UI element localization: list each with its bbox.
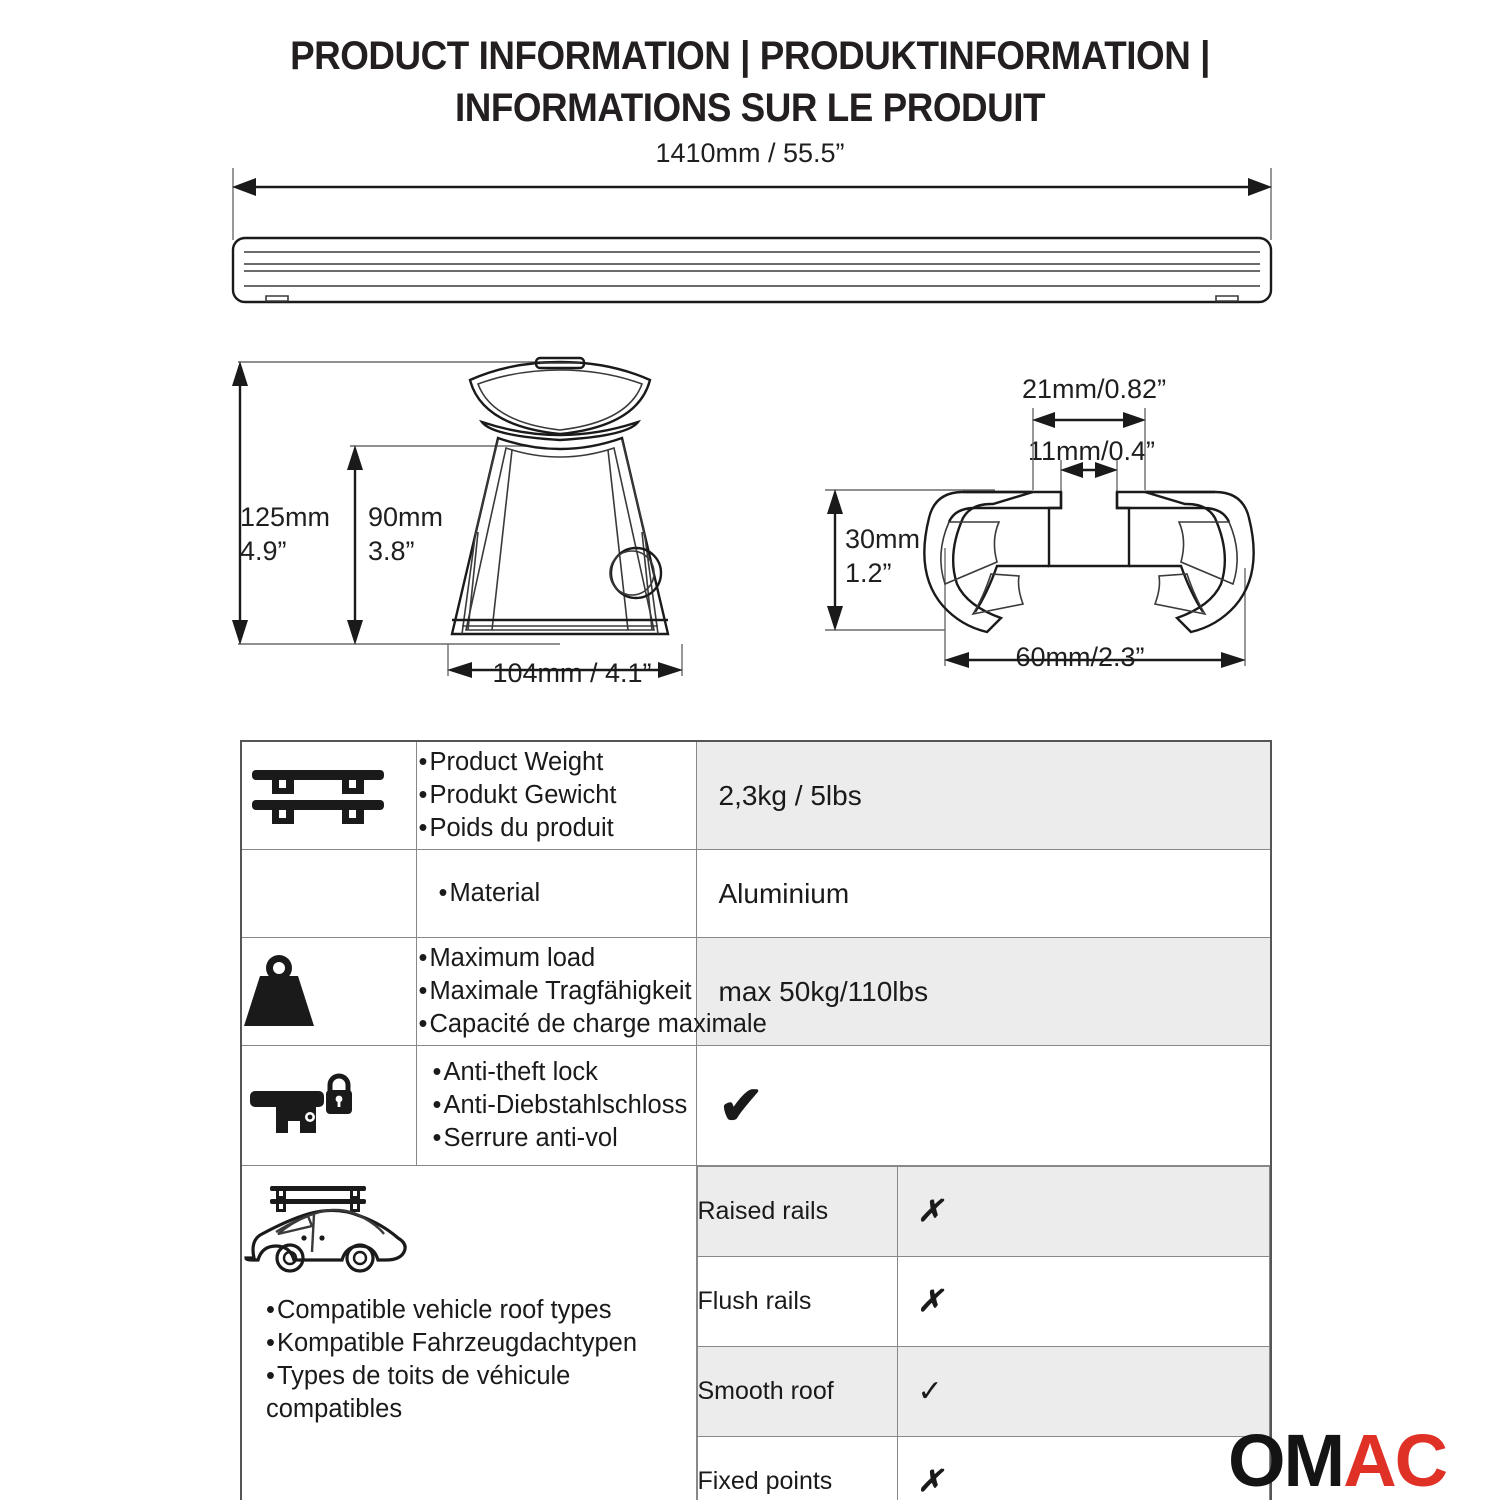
anti-theft-labels: Anti-theft lock Anti-Diebstahlschloss Se… bbox=[417, 1052, 696, 1159]
table-row: Product Weight Produkt Gewicht Poids du … bbox=[241, 741, 1271, 850]
max-load-labels: Maximum load Maximale Tragfähigkeit Capa… bbox=[417, 938, 696, 1045]
product-weight-labels-cell: Product Weight Produkt Gewicht Poids du … bbox=[416, 741, 696, 850]
weight-icon-cell bbox=[241, 938, 416, 1046]
table-row: Anti-theft lock Anti-Diebstahlschloss Se… bbox=[241, 1046, 1271, 1166]
omac-logo-red-text: AC bbox=[1343, 1419, 1446, 1500]
roof-type-mark: ✗ bbox=[898, 1197, 1270, 1227]
label-en: Anti-theft lock bbox=[433, 1056, 696, 1089]
roof-type-mark: ✗ bbox=[898, 1467, 1270, 1497]
material-value-cell: Aluminium bbox=[696, 850, 1271, 938]
label-en: Maximum load bbox=[419, 942, 696, 975]
specification-table: Product Weight Produkt Gewicht Poids du … bbox=[240, 740, 1272, 1500]
weight-icon bbox=[234, 954, 324, 1030]
roof-type-name: Fixed points bbox=[697, 1437, 897, 1500]
roof-type-mark-cell: ✗ bbox=[897, 1437, 1270, 1500]
roof-type-row-raised-rails: Raised rails ✗ bbox=[697, 1167, 1270, 1257]
page-title-line-1: PRODUCT INFORMATION | PRODUKTINFORMATION… bbox=[60, 30, 1440, 82]
crossbars-icon-cell bbox=[241, 741, 416, 850]
anti-theft-value-cell: ✔ bbox=[696, 1046, 1271, 1166]
label-fr: Poids du produit bbox=[419, 812, 696, 845]
product-weight-value-cell: 2,3kg / 5lbs bbox=[696, 741, 1271, 850]
label-en: Compatible vehicle roof types bbox=[266, 1294, 696, 1327]
roof-type-row-flush-rails: Flush rails ✗ bbox=[697, 1257, 1270, 1347]
product-information-sheet: PRODUCT INFORMATION | PRODUKTINFORMATION… bbox=[0, 0, 1500, 1500]
tower-side-view-drawing bbox=[230, 358, 700, 698]
page-title: PRODUCT INFORMATION | PRODUKTINFORMATION… bbox=[0, 30, 1500, 134]
car-with-rack-icon bbox=[242, 1180, 407, 1280]
label-de: Kompatible Fahrzeugdachtypen bbox=[266, 1327, 696, 1360]
label-fr: Types de toits de véhicule compatibles bbox=[266, 1360, 696, 1426]
omac-logo-dark-text: OM bbox=[1228, 1419, 1343, 1500]
table-row: Compatible vehicle roof types Kompatible… bbox=[241, 1166, 1271, 1500]
material-label-cell: Material bbox=[416, 850, 696, 938]
product-weight-labels: Product Weight Produkt Gewicht Poids du … bbox=[417, 742, 696, 849]
anti-theft-check-mark: ✔ bbox=[697, 1079, 1271, 1133]
label-de: Maximale Tragfähigkeit bbox=[419, 975, 696, 1008]
max-load-value: max 50kg/110lbs bbox=[697, 976, 1271, 1008]
crossbars-icon bbox=[242, 764, 392, 828]
roof-type-name: Smooth roof bbox=[697, 1347, 897, 1437]
max-load-value-cell: max 50kg/110lbs bbox=[696, 938, 1271, 1046]
bar-length-label: 1410mm / 55.5” bbox=[0, 136, 1500, 170]
label-fr: Serrure anti-vol bbox=[433, 1122, 696, 1155]
label-fr: Capacité de charge maximale bbox=[419, 1008, 696, 1041]
roof-types-labels: Compatible vehicle roof types Kompatible… bbox=[242, 1280, 696, 1430]
roof-type-mark-cell: ✓ bbox=[897, 1347, 1270, 1437]
roof-types-labels-cell: Compatible vehicle roof types Kompatible… bbox=[241, 1166, 696, 1500]
roof-type-mark-cell: ✗ bbox=[897, 1257, 1270, 1347]
roof-type-mark: ✗ bbox=[898, 1287, 1270, 1317]
crossbar-top-view-drawing bbox=[230, 168, 1275, 313]
omac-logo: OMAC bbox=[1228, 1418, 1446, 1500]
page-title-line-2: INFORMATIONS SUR LE PRODUIT bbox=[60, 82, 1440, 134]
roof-type-row-fixed-points: Fixed points ✗ bbox=[697, 1437, 1270, 1500]
label-en: Material bbox=[439, 877, 696, 910]
lock-icon-cell bbox=[241, 1046, 416, 1166]
max-load-labels-cell: Maximum load Maximale Tragfähigkeit Capa… bbox=[416, 938, 696, 1046]
roof-type-name: Flush rails bbox=[697, 1257, 897, 1347]
label-en: Product Weight bbox=[419, 746, 696, 779]
roof-types-matrix-cell: Raised rails ✗ Flush rails ✗ Smooth roof bbox=[696, 1166, 1271, 1500]
product-weight-value: 2,3kg / 5lbs bbox=[697, 780, 1271, 812]
anti-theft-labels-cell: Anti-theft lock Anti-Diebstahlschloss Se… bbox=[416, 1046, 696, 1166]
roof-type-mark: ✓ bbox=[898, 1377, 1270, 1407]
table-row: Maximum load Maximale Tragfähigkeit Capa… bbox=[241, 938, 1271, 1046]
roof-type-mark-cell: ✗ bbox=[897, 1167, 1270, 1257]
roof-type-row-smooth-roof: Smooth roof ✓ bbox=[697, 1347, 1270, 1437]
roof-types-table: Raised rails ✗ Flush rails ✗ Smooth roof bbox=[697, 1166, 1271, 1500]
label-de: Produkt Gewicht bbox=[419, 779, 696, 812]
roof-type-name: Raised rails bbox=[697, 1167, 897, 1257]
label-de: Anti-Diebstahlschloss bbox=[433, 1089, 696, 1122]
lock-icon bbox=[242, 1071, 362, 1141]
material-icon-cell bbox=[241, 850, 416, 938]
material-labels: Material bbox=[417, 873, 696, 914]
material-value: Aluminium bbox=[697, 878, 1271, 910]
table-row: Material Aluminium bbox=[241, 850, 1271, 938]
bar-profile-cross-section-drawing bbox=[815, 398, 1285, 698]
